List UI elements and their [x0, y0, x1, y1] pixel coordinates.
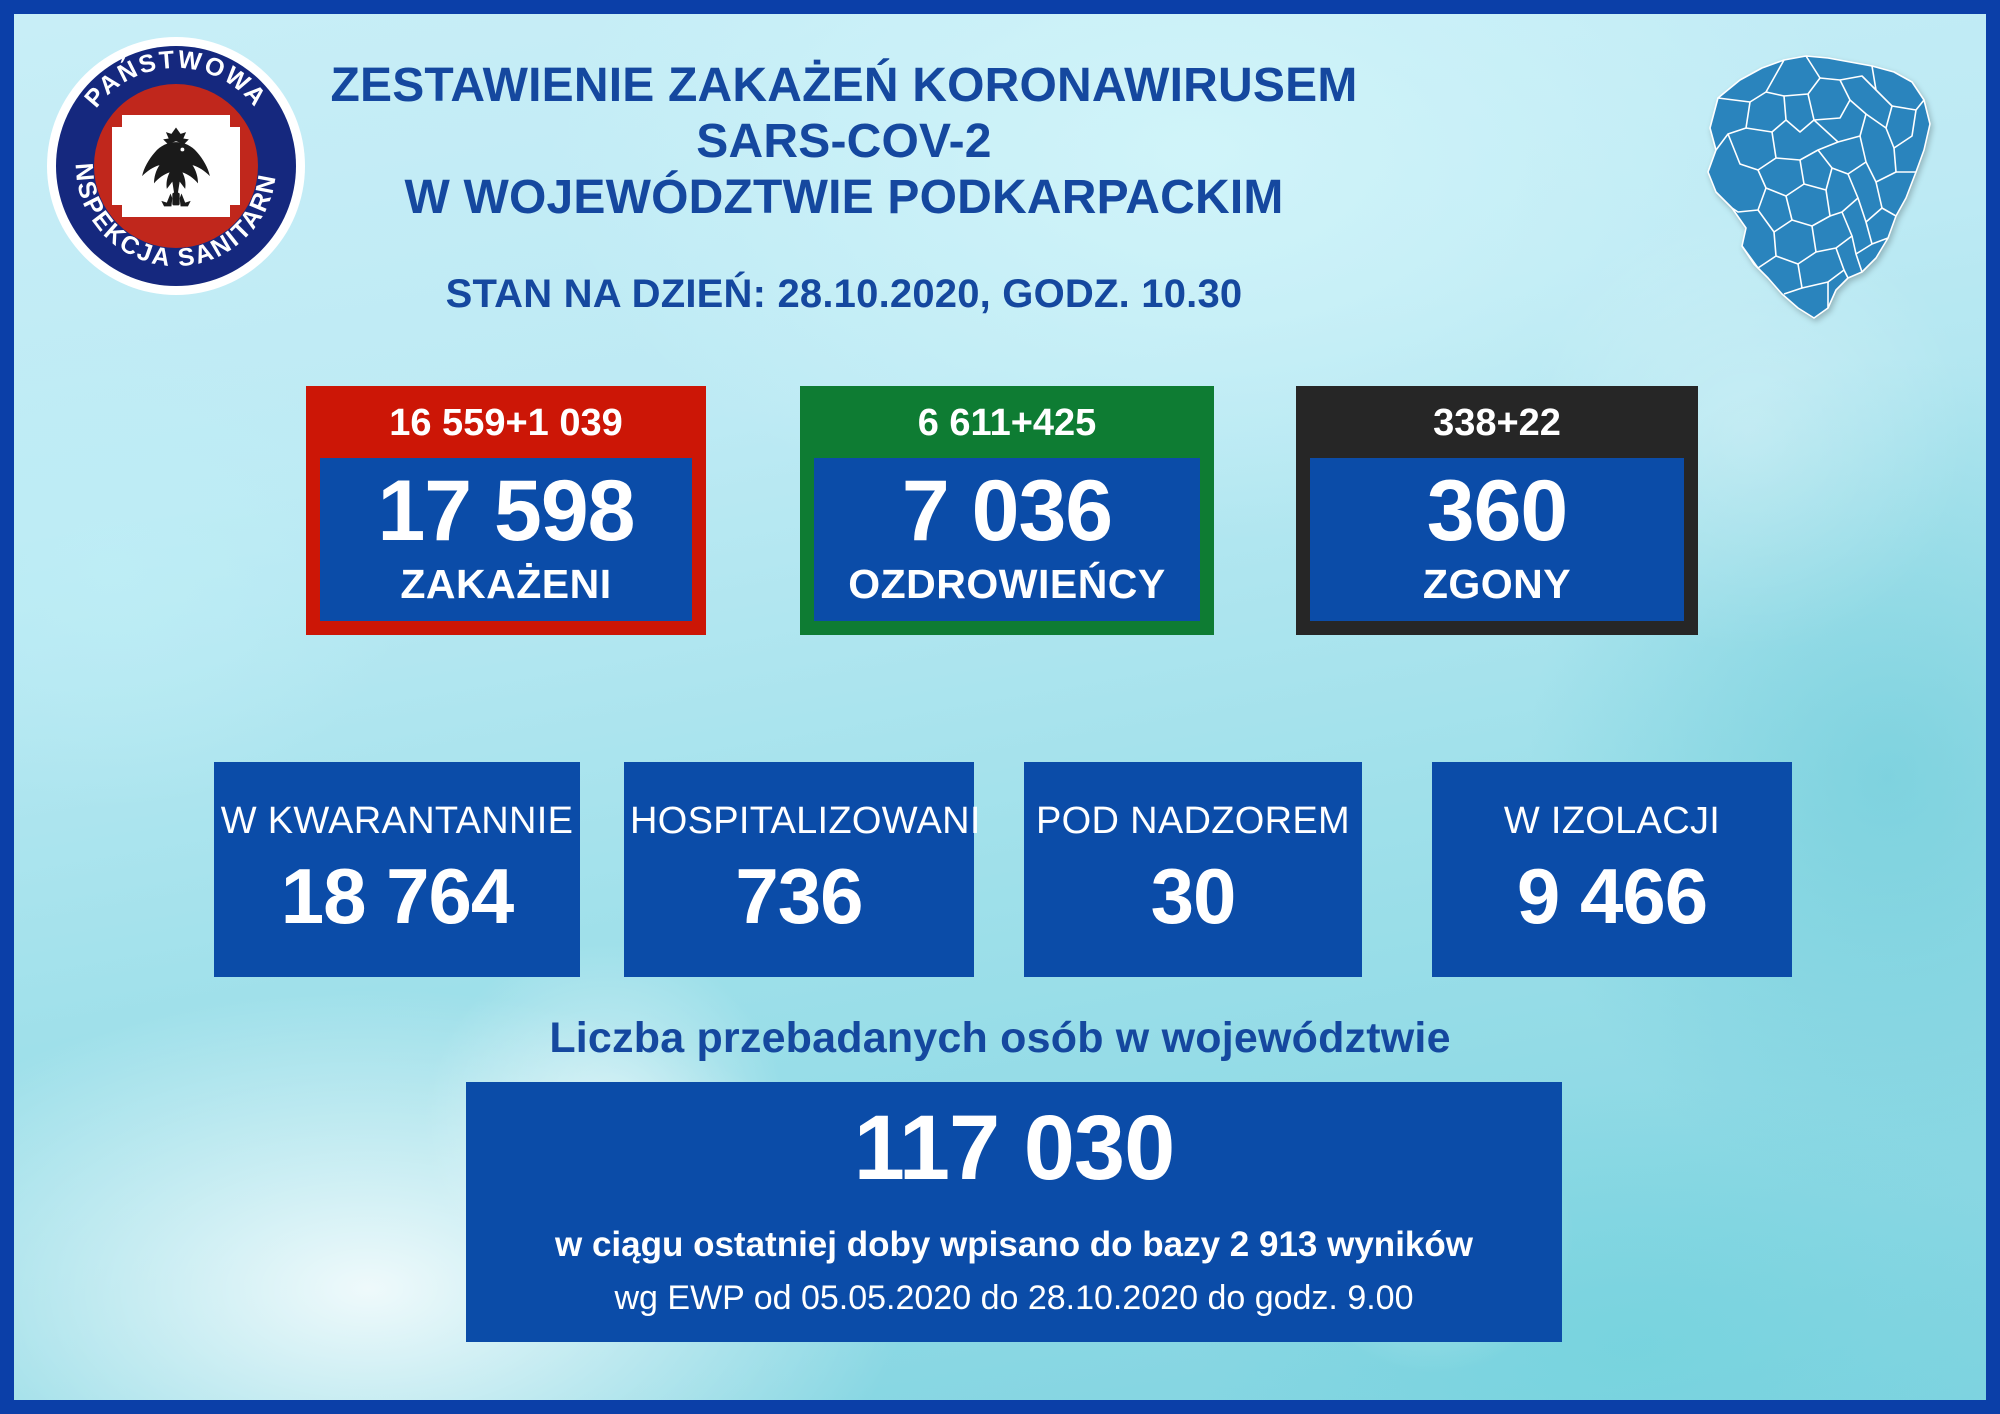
infographic-poster: PAŃSTWOWA INSPEKCJA SANITARNA	[0, 0, 2000, 1414]
sanitary-inspection-logo: PAŃSTWOWA INSPEKCJA SANITARNA	[50, 40, 302, 292]
tested-value: 117 030	[486, 1096, 1542, 1202]
poland-map-icon	[1680, 32, 1948, 332]
tested-box: 117 030 w ciągu ostatniej doby wpisano d…	[466, 1082, 1562, 1342]
primary-stats-row: 16 559+1 039 17 598 ZAKAŻENI 6 611+425 7…	[14, 386, 1986, 726]
recovered-value: 7 036	[820, 468, 1194, 556]
tested-heading: Liczba przebadanych osób w województwie	[14, 1014, 1986, 1063]
hospitalized-value: 736	[630, 856, 968, 938]
stat-card-infected: 16 559+1 039 17 598 ZAKAŻENI	[306, 386, 706, 635]
recovered-body: 7 036 OZDROWIEŃCY	[814, 458, 1200, 621]
deaths-value: 360	[1316, 468, 1678, 556]
stat-card-deaths: 338+22 360 ZGONY	[1296, 386, 1698, 635]
supervision-label: POD NADZOREM	[1030, 801, 1356, 843]
stat-box-quarantine: W KWARANTANNIE 18 764	[214, 762, 580, 977]
logo-arc-text: PAŃSTWOWA INSPEKCJA SANITARNA	[50, 40, 302, 292]
deaths-body: 360 ZGONY	[1310, 458, 1684, 621]
recovered-label: OZDROWIEŃCY	[820, 562, 1194, 607]
secondary-stats-row: W KWARANTANNIE 18 764 HOSPITALIZOWANI 73…	[14, 762, 1986, 980]
logo-top-text: PAŃSTWOWA	[79, 45, 272, 112]
page-subtitle: STAN NA DZIEŃ: 28.10.2020, GODZ. 10.30	[314, 272, 1374, 317]
quarantine-label: W KWARANTANNIE	[220, 801, 574, 843]
stat-box-isolation: W IZOLACJI 9 466	[1432, 762, 1792, 977]
stat-card-recovered: 6 611+425 7 036 OZDROWIEŃCY	[800, 386, 1214, 635]
title-line-2: W WOJEWÓDZTWIE PODKARPACKIM	[314, 170, 1374, 226]
infected-body: 17 598 ZAKAŻENI	[320, 458, 692, 621]
isolation-value: 9 466	[1438, 856, 1786, 938]
page-title: ZESTAWIENIE ZAKAŻEŃ KORONAWIRUSEM SARS-C…	[314, 58, 1374, 226]
stat-box-supervision: POD NADZOREM 30	[1024, 762, 1362, 977]
deaths-label: ZGONY	[1316, 562, 1678, 607]
title-line-1: ZESTAWIENIE ZAKAŻEŃ KORONAWIRUSEM SARS-C…	[314, 58, 1374, 170]
poland-map	[1680, 32, 1948, 332]
recovered-delta: 6 611+425	[800, 386, 1214, 458]
infected-label: ZAKAŻENI	[326, 562, 686, 607]
deaths-delta: 338+22	[1296, 386, 1698, 458]
supervision-value: 30	[1030, 856, 1356, 938]
infected-value: 17 598	[326, 468, 686, 556]
infected-delta: 16 559+1 039	[306, 386, 706, 458]
hospitalized-label: HOSPITALIZOWANI	[630, 801, 968, 843]
tested-note-range: wg EWP od 05.05.2020 do 28.10.2020 do go…	[486, 1278, 1542, 1319]
tested-note-daily: w ciągu ostatniej doby wpisano do bazy 2…	[486, 1224, 1542, 1266]
isolation-label: W IZOLACJI	[1438, 801, 1786, 843]
stat-box-hospitalized: HOSPITALIZOWANI 736	[624, 762, 974, 977]
quarantine-value: 18 764	[220, 856, 574, 938]
